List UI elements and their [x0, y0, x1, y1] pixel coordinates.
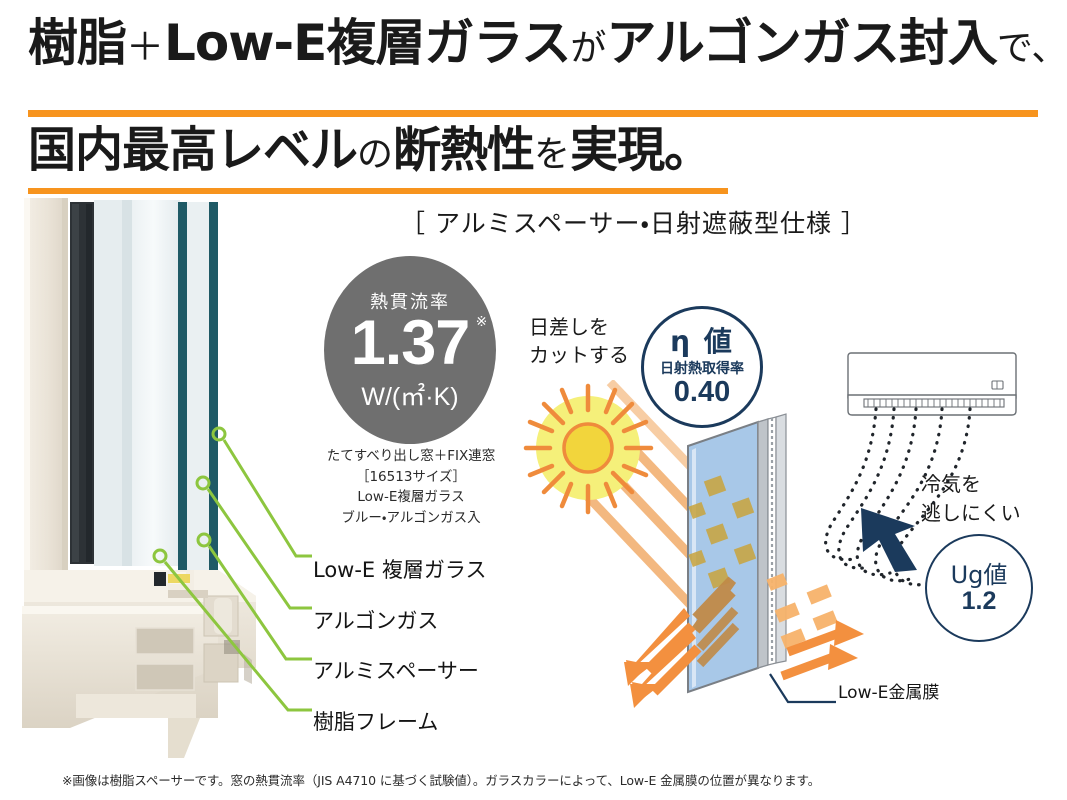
headline-line-1-row: 樹脂＋Low-E複層ガラスがアルゴンガス封入で、 [0, 18, 1067, 90]
headline-segment-4: アルゴンガス [606, 14, 899, 72]
u-value-unit: W/(㎡·K) [361, 377, 458, 413]
subtitle-spec: ［ アルミスペーサー・日射遮蔽型仕様 ］ [400, 204, 867, 240]
u-value-badge: 熱貫流率 1.37※ W/(㎡·K) [324, 256, 496, 444]
headline-segment-0: 樹脂 [28, 14, 126, 72]
eta-value: 0.40 [674, 378, 730, 407]
sun-cut-line-1: 日差しを [529, 313, 629, 341]
headline-segment-3: を [534, 134, 570, 175]
spec-line-2: Low-E複層ガラス [300, 487, 522, 508]
sun-cut-caption: 日差しを カットする [529, 313, 629, 370]
headline-line-2: 国内最高レベルの断熱性を実現。 [28, 126, 711, 174]
headline-block: 樹脂＋Low-E複層ガラスがアルゴンガス封入で、 国内最高レベルの断熱性を実現。 [0, 18, 1067, 90]
u-value-number: 1.37※ [351, 312, 470, 375]
cold-air-caption: 冷気を 逃しにくい [921, 470, 1021, 528]
callout-label-low-e-glass: Low-E 複層ガラス [313, 554, 486, 584]
headline-segment-6: で、 [997, 28, 1067, 69]
u-value-asterisk: ※ [476, 314, 487, 328]
ug-value: 1.2 [962, 589, 997, 614]
cold-air-line-2: 逃しにくい [921, 499, 1021, 528]
callout-label-resin-frame: 樹脂フレーム [313, 706, 438, 736]
spec-line-3: ブルー・アルゴンガス入 [300, 508, 522, 529]
spec-line-1: ［16513サイズ］ [300, 467, 522, 488]
eta-value-badge: η 値 日射熱取得率 0.40 [641, 306, 763, 428]
cold-air-line-1: 冷気を [921, 470, 1021, 499]
headline-segment-1: ＋ [126, 25, 164, 69]
footnote-text: ※画像は樹脂スペーサーです。窓の熱貫流率（JIS A4710 に基づく試験値）。… [62, 770, 1052, 789]
ug-title: Ug値 [951, 562, 1008, 588]
headline-segment-5: 封入 [899, 14, 997, 72]
headline-line-1: 樹脂＋Low-E複層ガラスがアルゴンガス封入で、 [28, 18, 1067, 68]
low-e-film-label: Low-E金属膜 [838, 678, 939, 703]
headline-segment-2: 断熱性 [393, 122, 534, 178]
headline-underline-2 [28, 188, 728, 194]
sun-cut-line-2: カットする [529, 341, 629, 369]
callout-label-aluminum-spacer: アルミスペーサー [313, 655, 479, 685]
ug-value-badge: Ug値 1.2 [925, 534, 1033, 642]
callout-label-argon-gas: アルゴンガス [313, 605, 438, 635]
infographic-root: 樹脂＋Low-E複層ガラスがアルゴンガス封入で、 国内最高レベルの断熱性を実現。… [0, 0, 1067, 800]
headline-underline-1 [28, 110, 1038, 117]
headline-segment-3: が [570, 28, 606, 69]
headline-segment-0: 国内最高レベル [28, 122, 357, 178]
window-cross-section-image [18, 198, 318, 758]
headline-segment-4: 実現。 [570, 122, 711, 178]
headline-segment-1: の [357, 134, 393, 175]
u-value-figure: 1.37 [351, 308, 470, 378]
spec-line-0: たてすべり出し窓＋FIX連窓 [300, 446, 522, 467]
eta-title: η 値 [670, 327, 734, 356]
eta-subtitle: 日射熱取得率 [660, 358, 744, 378]
headline-segment-2: Low-E複層ガラス [164, 14, 570, 72]
spec-description: たてすべり出し窓＋FIX連窓［16513サイズ］Low-E複層ガラスブルー・アル… [300, 446, 522, 528]
